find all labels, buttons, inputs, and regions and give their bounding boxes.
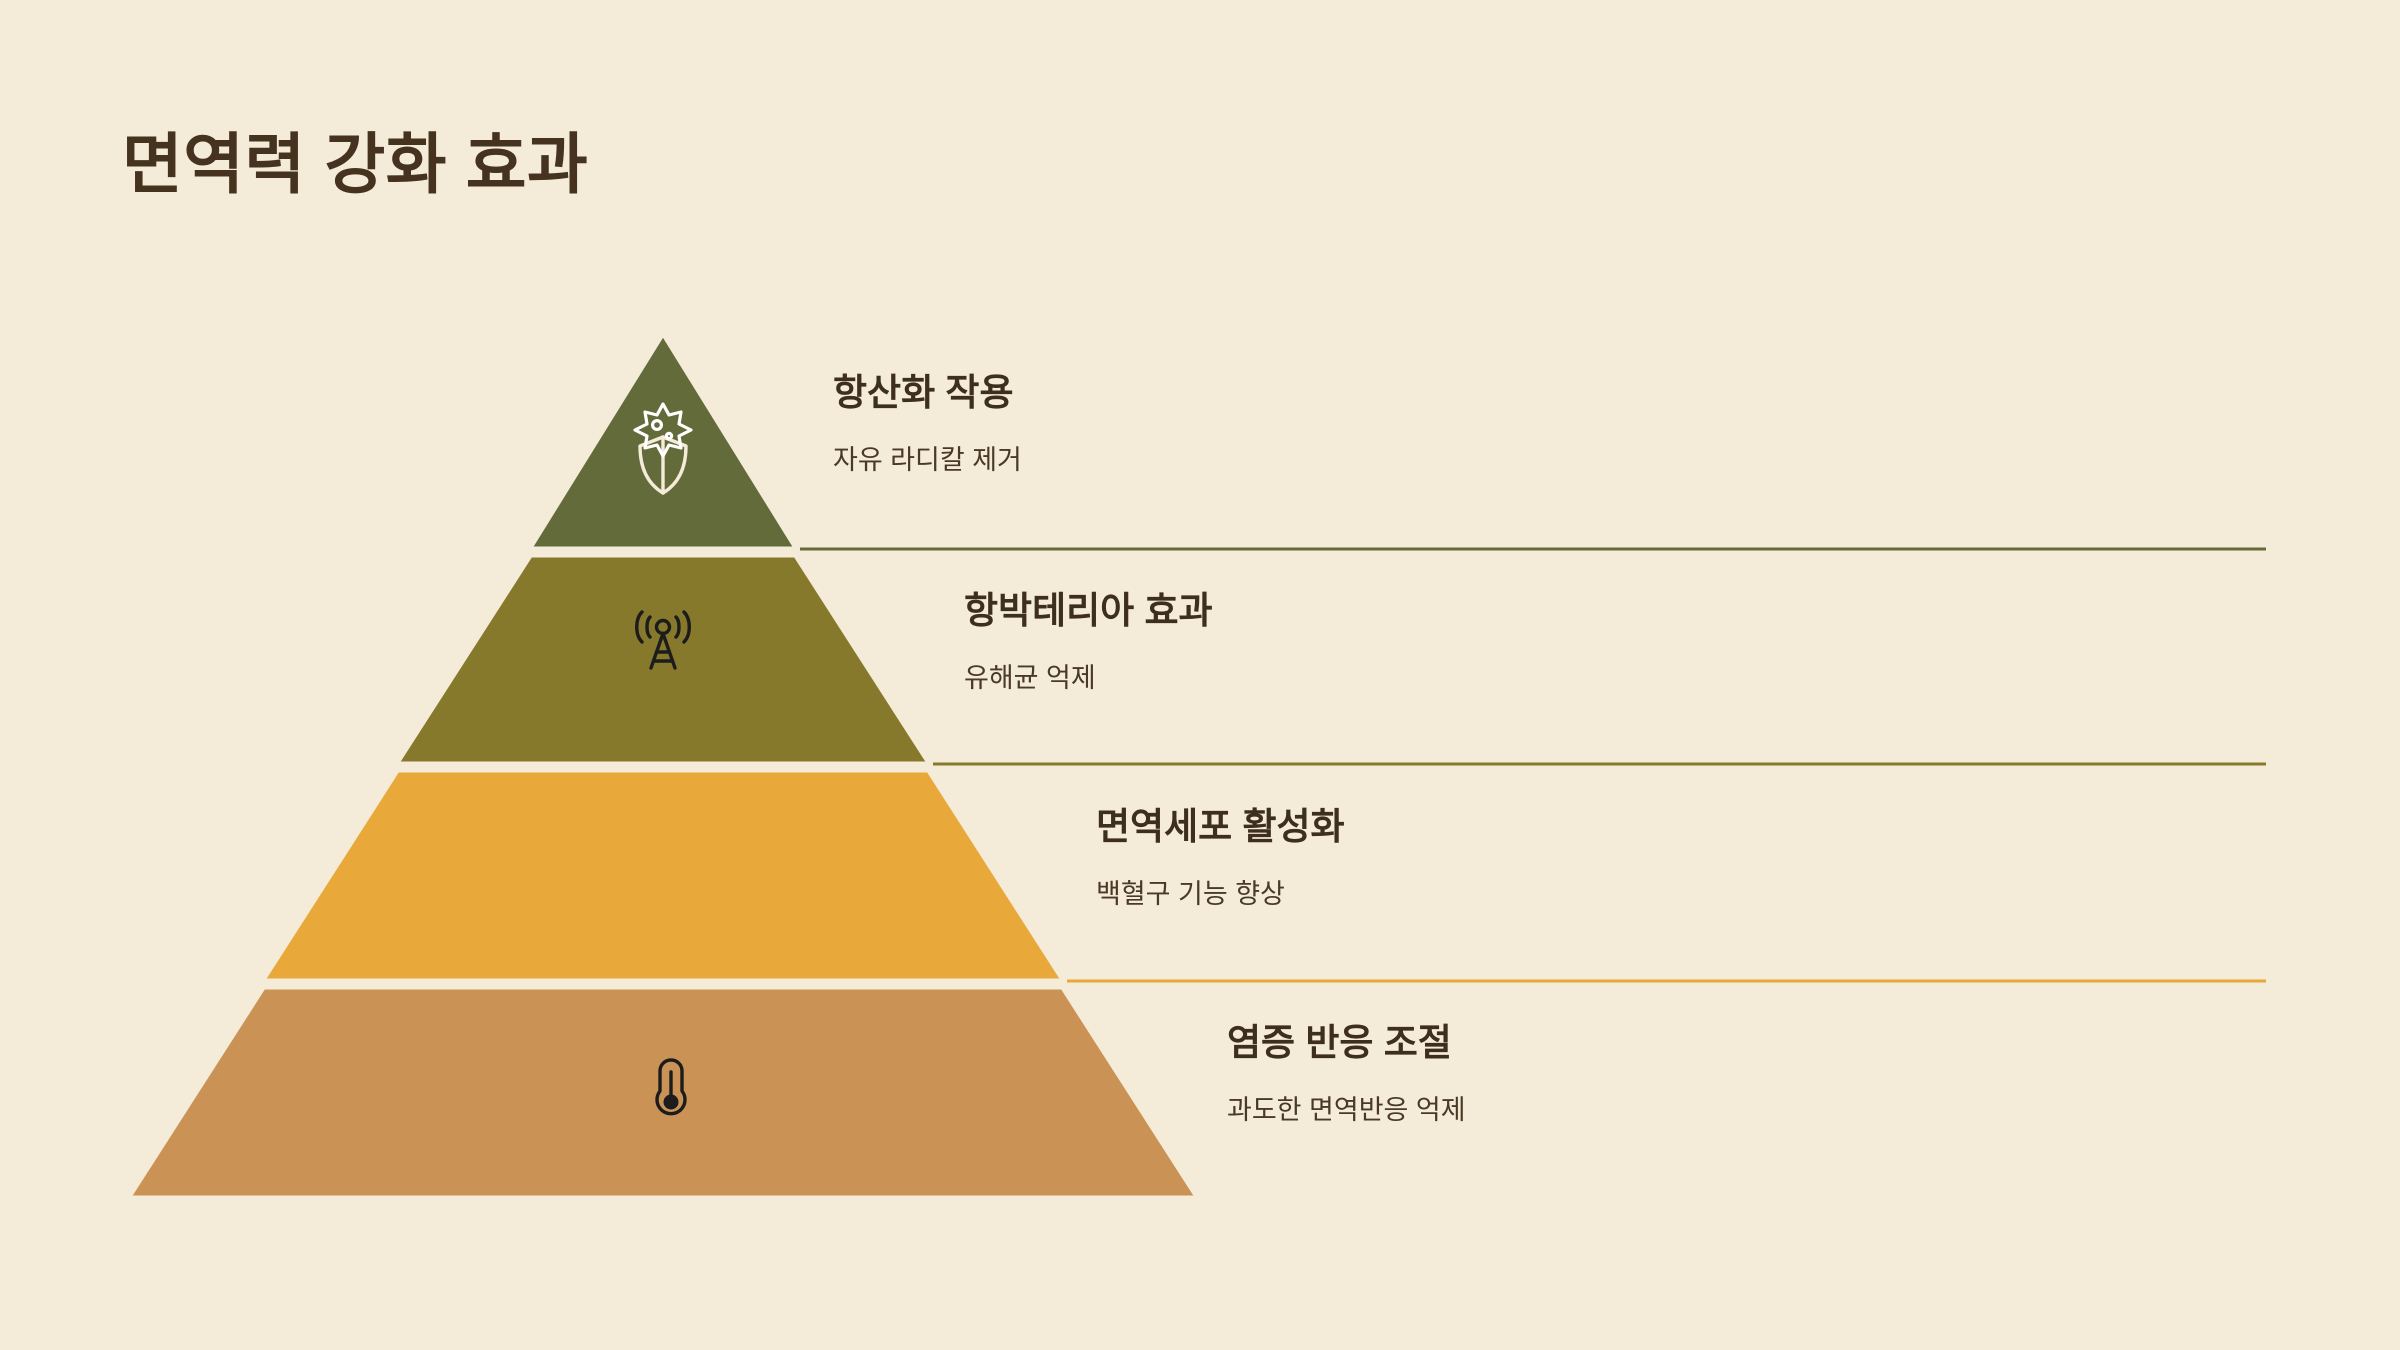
tier-2-title: 항박테리아 효과 [964, 589, 1213, 633]
tier-3-subtitle: 백혈구 기능 향상 [1096, 878, 1345, 910]
pyramid-tier-3-shape[interactable] [264, 771, 1062, 980]
pyramid-tier-4-shape[interactable] [130, 988, 1196, 1197]
tier-4-subtitle: 과도한 면역반응 억제 [1227, 1094, 1466, 1126]
tier-1-label-group: 항산화 작용 자유 라디칼 제거 [833, 371, 1022, 477]
tier-3-title: 면역세포 활성화 [1096, 805, 1345, 849]
tier-4-title: 염증 반응 조절 [1227, 1021, 1466, 1065]
tier-3-label-group: 면역세포 활성화 백혈구 기능 향상 [1096, 805, 1345, 911]
infographic-canvas: 면역력 강화 효과 [0, 0, 2400, 1350]
tier-2-label-group: 항박테리아 효과 유해균 억제 [964, 589, 1213, 695]
tier-2-subtitle: 유해균 억제 [964, 662, 1213, 694]
tier-1-subtitle: 자유 라디칼 제거 [833, 444, 1022, 476]
tier-4-label-group: 염증 반응 조절 과도한 면역반응 억제 [1227, 1021, 1466, 1127]
tier-1-title: 항산화 작용 [833, 371, 1022, 415]
